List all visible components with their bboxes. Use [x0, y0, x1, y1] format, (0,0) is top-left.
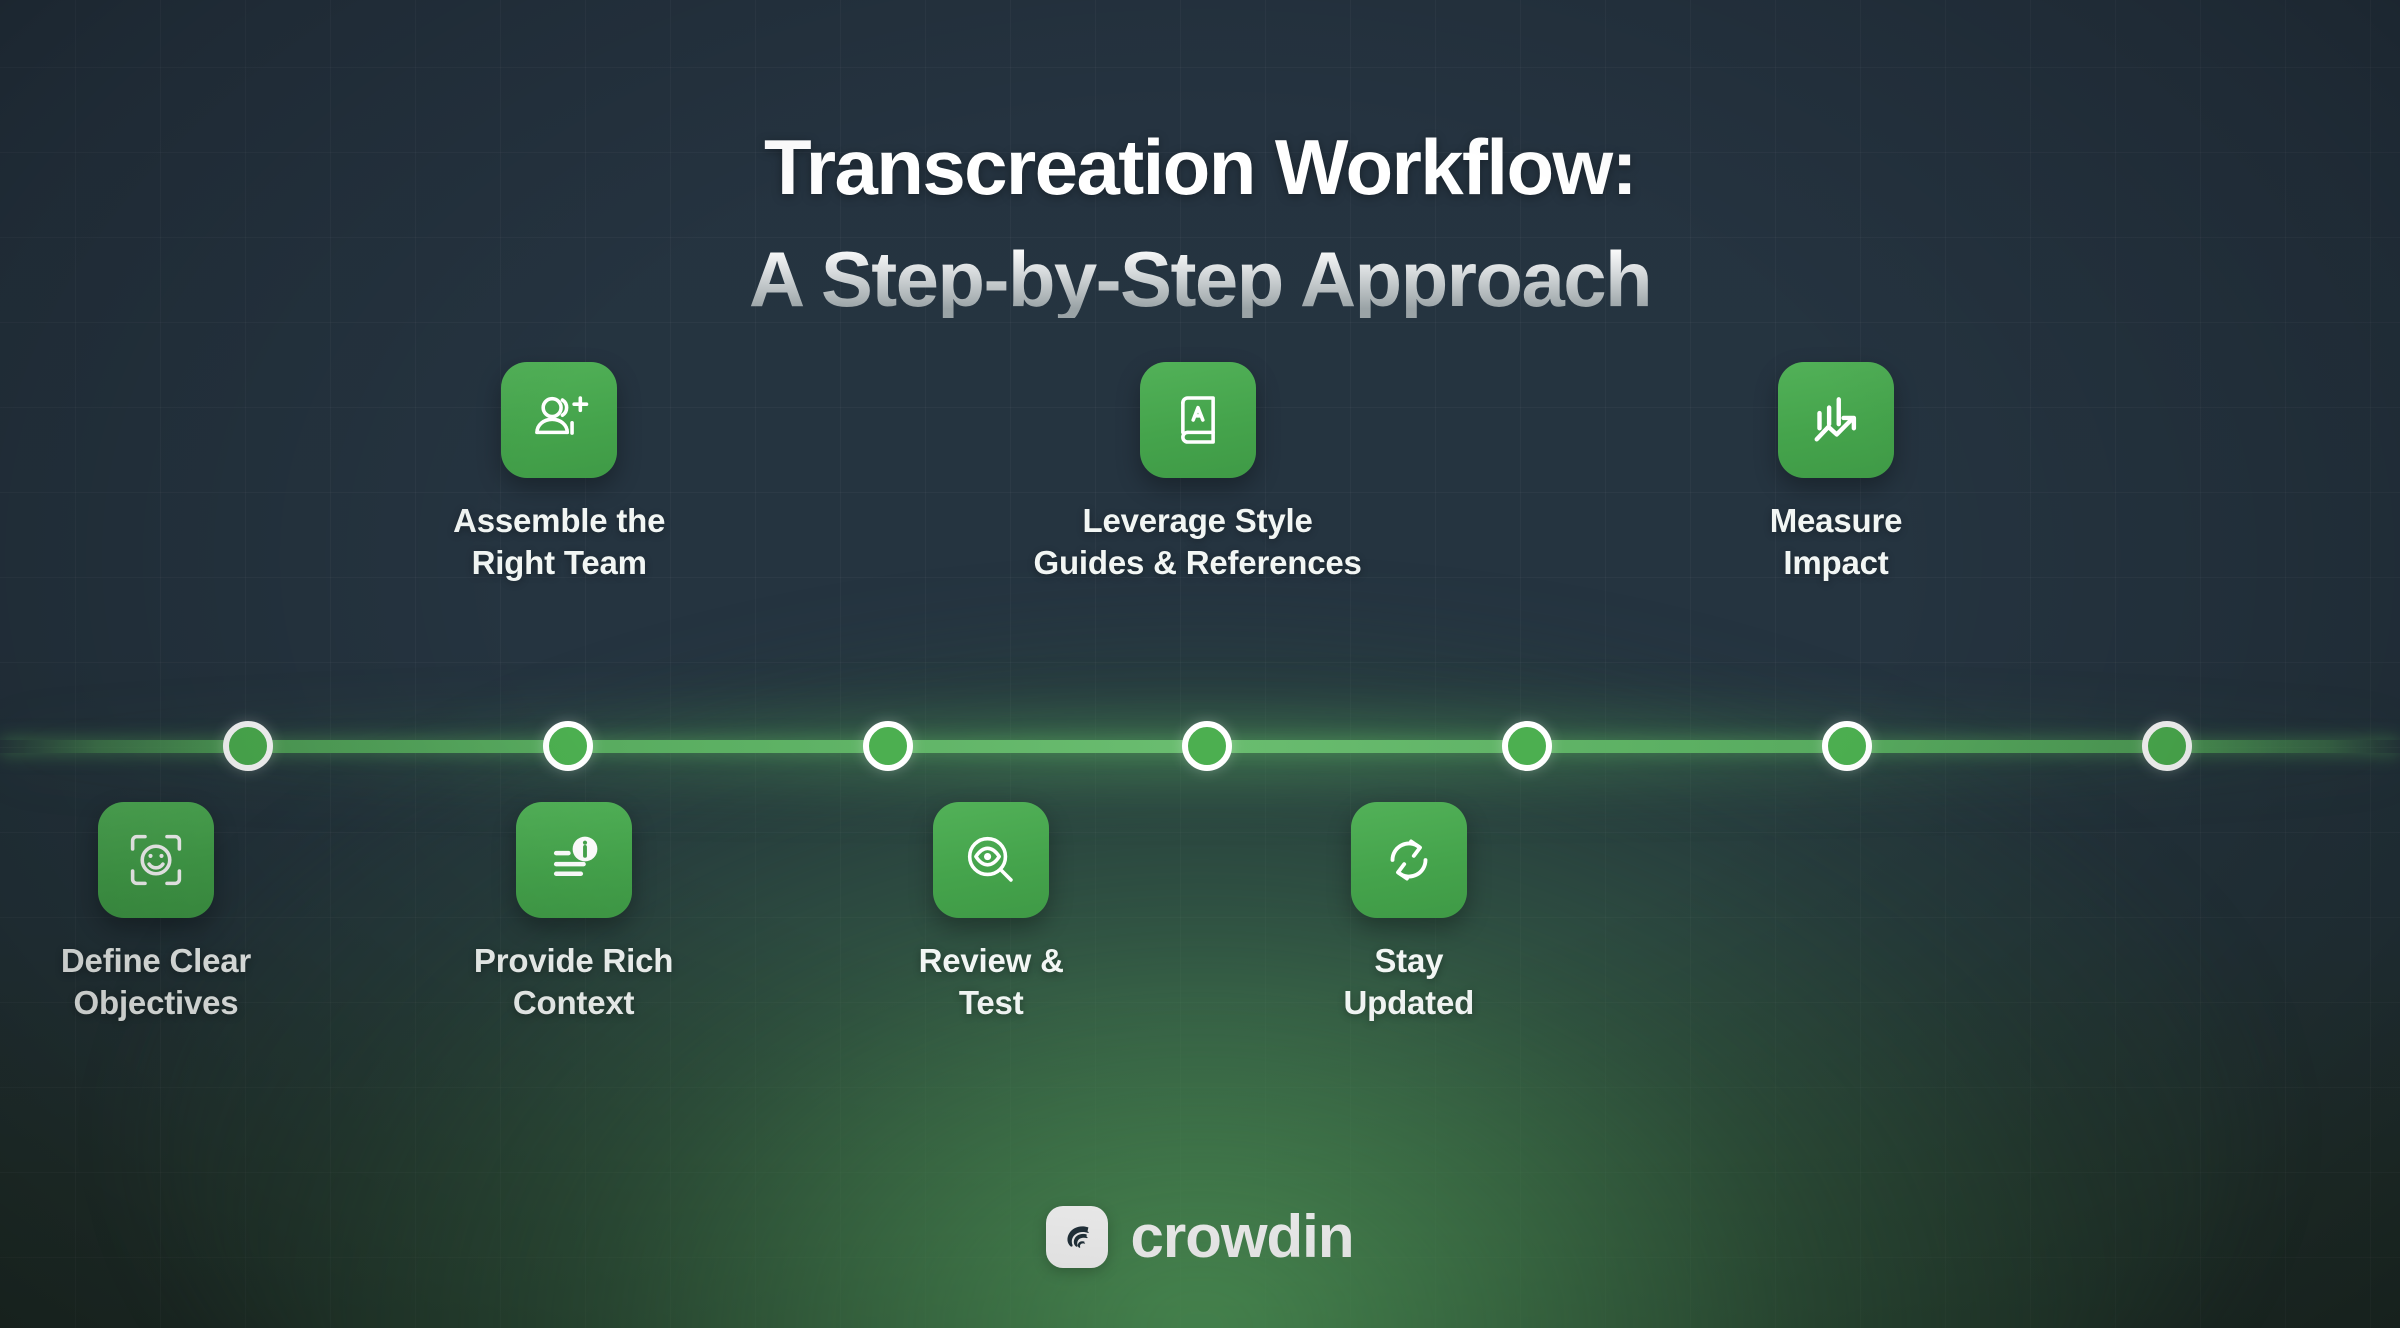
step-measure-impact[interactable]: Measure Impact [1666, 362, 2006, 584]
step-leverage-style-guides-references[interactable]: Leverage Style Guides & References [1028, 362, 1368, 584]
step-provide-rich-context[interactable]: Provide Rich Context [404, 802, 744, 1024]
chart-trend-up-icon [1778, 362, 1894, 478]
face-scan-icon [98, 802, 214, 918]
step-label: Define Clear Objectives [0, 940, 326, 1024]
sync-refresh-icon [1351, 802, 1467, 918]
header: Transcreation Workflow: A Step-by-Step A… [0, 128, 2400, 318]
step-label: Stay Updated [1239, 940, 1579, 1024]
step-label: Assemble the Right Team [389, 500, 729, 584]
timeline-node[interactable] [1182, 721, 1232, 771]
brand-logo: crowdin [0, 1206, 2400, 1268]
step-assemble-the-right-team[interactable]: Assemble the Right Team [389, 362, 729, 584]
timeline [0, 735, 2400, 757]
infographic-canvas: Transcreation Workflow: A Step-by-Step A… [0, 0, 2400, 1328]
document-info-icon [516, 802, 632, 918]
page-title-line-1: Transcreation Workflow: [0, 128, 2400, 206]
step-define-clear-objectives[interactable]: Define Clear Objectives [0, 802, 326, 1024]
timeline-node[interactable] [1502, 721, 1552, 771]
style-guide-book-icon [1140, 362, 1256, 478]
timeline-node[interactable] [2142, 721, 2192, 771]
brand-name: crowdin [1130, 1207, 1353, 1267]
step-label: Provide Rich Context [404, 940, 744, 1024]
timeline-node[interactable] [223, 721, 273, 771]
timeline-node[interactable] [1822, 721, 1872, 771]
step-label: Review & Test [821, 940, 1161, 1024]
timeline-node[interactable] [863, 721, 913, 771]
crowdin-logo-icon [1046, 1206, 1108, 1268]
step-stay-updated[interactable]: Stay Updated [1239, 802, 1579, 1024]
add-users-icon [501, 362, 617, 478]
eye-search-icon [933, 802, 1049, 918]
page-title-line-2: A Step-by-Step Approach [0, 240, 2400, 318]
step-label: Measure Impact [1666, 500, 2006, 584]
step-review-and-test[interactable]: Review & Test [821, 802, 1161, 1024]
step-label: Leverage Style Guides & References [1028, 500, 1368, 584]
timeline-node[interactable] [543, 721, 593, 771]
